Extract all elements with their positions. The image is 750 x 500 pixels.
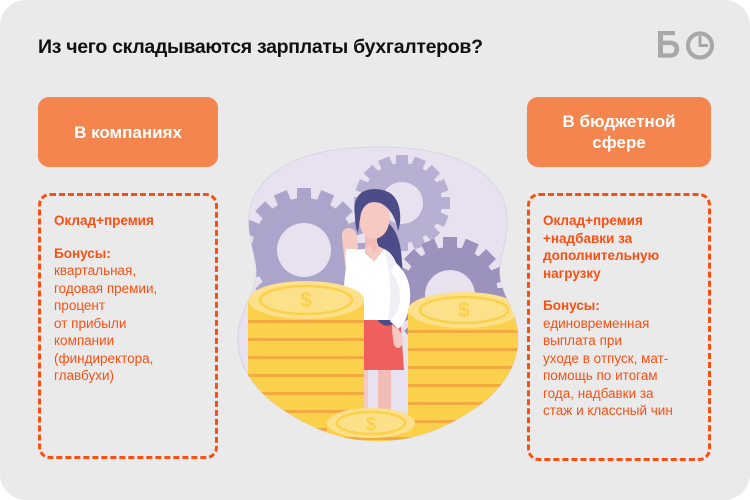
details-box-public-sector: Оклад+премия +надбавки за дополнительную…	[527, 193, 711, 461]
illustration-woman-coins-gears: $	[228, 145, 528, 475]
public-sector-bonus-text: единовременная выплата при уходе в отпус…	[543, 315, 696, 420]
chip-public-sector: В бюджетной сфере	[527, 97, 711, 167]
page-title: Из чего складываются зарплаты бухгалтеро…	[38, 35, 638, 59]
companies-bonus-label: Бонусы:	[54, 245, 203, 263]
spacer	[54, 230, 203, 245]
companies-bonus-text: квартальная, годовая премии, процент от …	[54, 262, 203, 385]
chip-companies-label: В компаниях	[74, 122, 182, 143]
coin-stack-center: $	[327, 408, 415, 475]
infographic-panel: Из чего складываются зарплаты бухгалтеро…	[0, 0, 750, 500]
details-box-companies: Оклад+премия Бонусы: квартальная, годова…	[38, 193, 218, 459]
chip-companies: В компаниях	[38, 97, 218, 167]
svg-text:$: $	[366, 414, 376, 434]
chip-public-sector-label: В бюджетной сфере	[537, 111, 701, 153]
svg-text:$: $	[458, 299, 470, 322]
svg-text:$: $	[300, 289, 312, 312]
bo-clock-logo	[654, 28, 716, 62]
public-sector-heading: Оклад+премия +надбавки за дополнительную…	[543, 212, 696, 282]
companies-heading: Оклад+премия	[54, 212, 203, 230]
spacer	[543, 282, 696, 297]
coin-stack-right: $	[408, 292, 520, 450]
infographic-root: Из чего складываются зарплаты бухгалтеро…	[0, 0, 750, 500]
public-sector-bonus-label: Бонусы:	[543, 297, 696, 315]
